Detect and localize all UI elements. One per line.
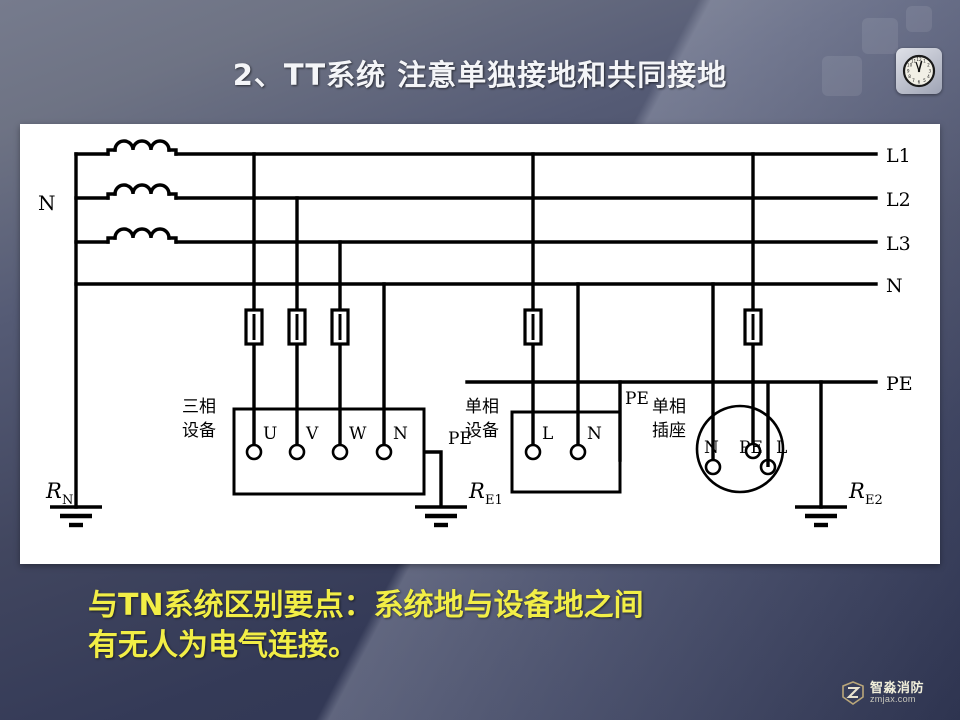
zhimiao-logo-icon xyxy=(840,680,866,706)
svg-text:E1: E1 xyxy=(485,493,503,508)
bus-label-pe: PE xyxy=(886,373,913,395)
socket-terminal-n: N xyxy=(704,438,719,458)
terminal-label-u: U xyxy=(263,424,277,444)
single-phase-socket-label-line2: 插座 xyxy=(652,421,686,441)
terminal-label-l-1p: L xyxy=(542,424,553,444)
svg-text:N: N xyxy=(62,493,73,508)
bus-label-l3: L3 xyxy=(886,233,911,255)
single-phase-socket-label-line1: 单相 xyxy=(652,397,686,417)
single-phase-pe-label: PE xyxy=(625,389,649,409)
watermark-subtitle: zmjax.com xyxy=(870,695,924,704)
terminal-label-v: V xyxy=(305,424,319,444)
svg-text:R: R xyxy=(45,479,62,503)
tt-system-wiring-diagram: N L1 L2 L3 N PE U V W N PE L N PE N PE L xyxy=(20,124,940,564)
slide-canvas: 121 23 45 67 89 1011 2、TT系统 注意单独接地和共同接地 xyxy=(0,0,960,720)
socket-terminal-l: L xyxy=(776,438,787,458)
terminal-label-w: W xyxy=(349,424,367,444)
bus-label-l2: L2 xyxy=(886,189,911,211)
svg-text:R: R xyxy=(848,479,865,503)
page-title: 2、TT系统 注意单独接地和共同接地 xyxy=(0,52,960,94)
terminal-label-n-1p: N xyxy=(587,424,602,444)
single-phase-equipment-label-line2: 设备 xyxy=(465,421,499,441)
svg-text:R: R xyxy=(468,479,485,503)
three-phase-equipment-label-line2: 设备 xyxy=(182,421,216,441)
source-neutral-label: N xyxy=(38,191,56,215)
slide-caption: 与TN系统区别要点：系统地与设备地之间 有无人为电气连接。 xyxy=(0,586,960,666)
svg-text:E2: E2 xyxy=(865,493,883,508)
decorative-square-icon xyxy=(906,6,932,32)
single-phase-equipment-label-line1: 单相 xyxy=(465,397,499,417)
bus-label-l1: L1 xyxy=(886,145,911,167)
terminal-label-n-3p: N xyxy=(393,424,408,444)
caption-line-1: 与TN系统区别要点：系统地与设备地之间 xyxy=(60,586,900,626)
three-phase-equipment-label-line1: 三相 xyxy=(182,397,216,417)
socket-terminal-pe: PE xyxy=(739,438,763,458)
watermark: 智淼消防 zmjax.com xyxy=(840,680,924,706)
caption-line-2: 有无人为电气连接。 xyxy=(60,626,900,666)
decorative-square-icon xyxy=(862,18,898,54)
bus-label-n: N xyxy=(886,275,903,297)
